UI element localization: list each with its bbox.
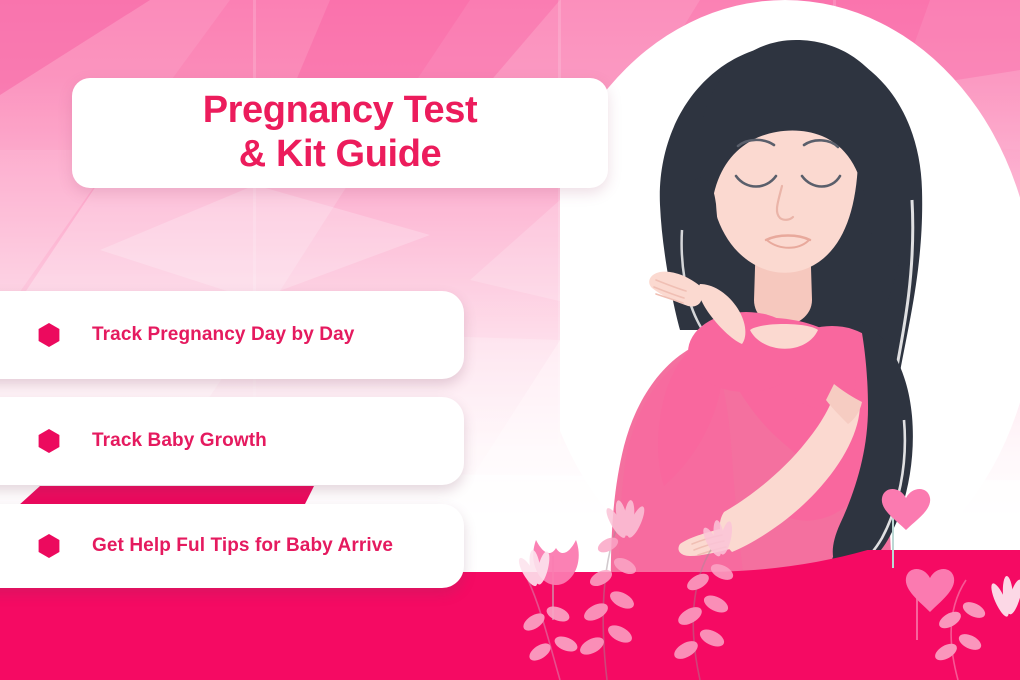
- promo-banner: Pregnancy Test & Kit Guide Track Pregnan…: [0, 0, 1020, 680]
- feature-item-2[interactable]: Track Baby Growth: [0, 397, 464, 485]
- leaf-sprig-icon: [577, 499, 647, 680]
- hexagon-bullet-icon: [36, 428, 62, 454]
- title-card: Pregnancy Test & Kit Guide: [72, 78, 608, 188]
- page-title-line-1: Pregnancy Test: [203, 89, 478, 133]
- hexagon-bullet-icon: [36, 322, 62, 348]
- feature-item-3-label: Get Help Ful Tips for Baby Arrive: [92, 535, 393, 557]
- feature-item-2-label: Track Baby Growth: [92, 430, 267, 452]
- feature-item-3[interactable]: Get Help Ful Tips for Baby Arrive: [0, 504, 464, 588]
- page-title-line-2: & Kit Guide: [239, 133, 442, 177]
- hexagon-bullet-icon: [36, 533, 62, 559]
- leaf-sprig-icon: [671, 519, 735, 680]
- leaf-frond-icon: [988, 576, 1020, 619]
- feature-item-1[interactable]: Track Pregnancy Day by Day: [0, 291, 464, 379]
- feature-item-1-label: Track Pregnancy Day by Day: [92, 324, 354, 346]
- heart-flower-icon: [882, 489, 930, 568]
- heart-flower-icon: [906, 569, 954, 640]
